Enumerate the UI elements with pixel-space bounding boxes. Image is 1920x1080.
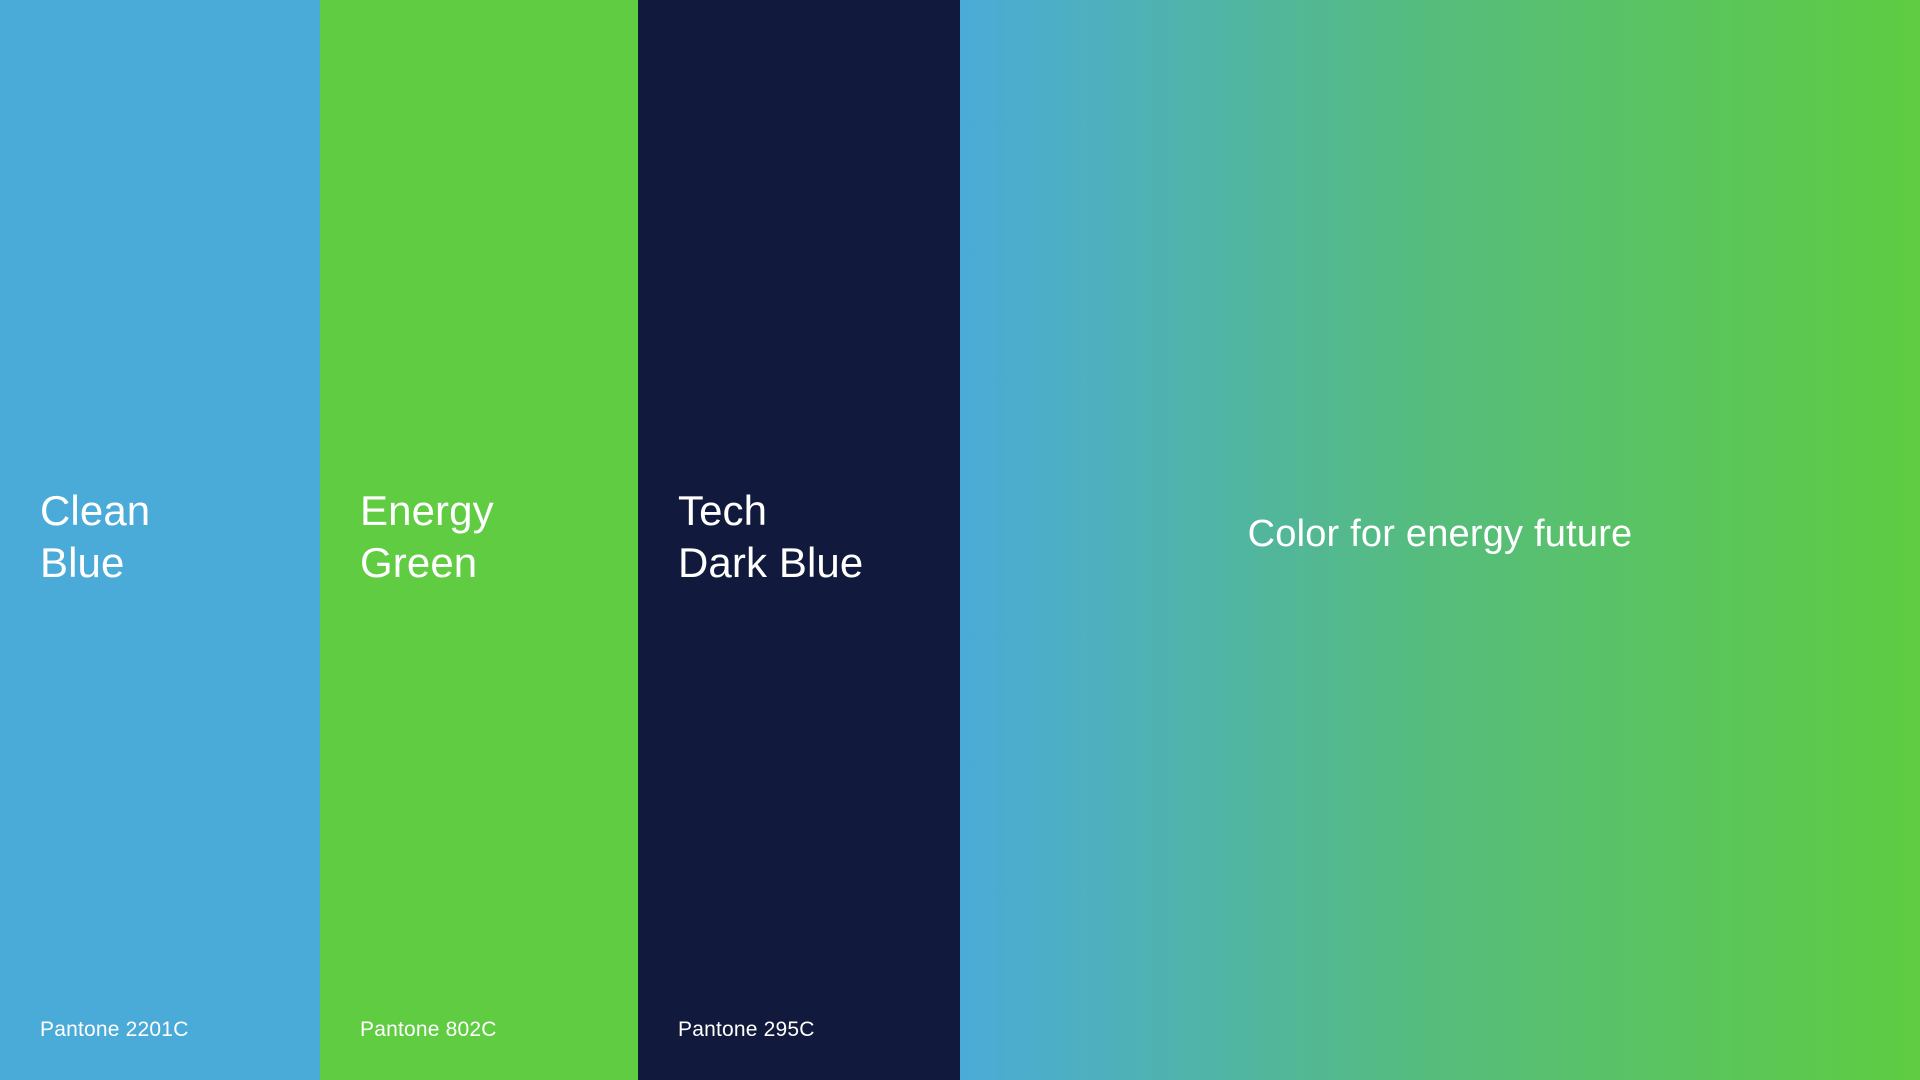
swatch-tech-dark-blue-pantone: Pantone 295C xyxy=(678,1018,815,1042)
swatch-clean-blue-pantone: Pantone 2201C xyxy=(40,1018,189,1042)
swatch-tech-dark-blue[interactable]: Tech Dark Blue Pantone 295C xyxy=(638,0,960,1080)
swatch-clean-blue[interactable]: Clean Blue Pantone 2201C xyxy=(0,0,320,1080)
swatch-energy-green-name: Energy Green xyxy=(360,485,494,589)
color-palette-board: Clean Blue Pantone 2201C Energy Green Pa… xyxy=(0,0,1920,1080)
gradient-panel-caption: Color for energy future xyxy=(1248,513,1633,556)
swatch-tech-dark-blue-name: Tech Dark Blue xyxy=(678,485,863,589)
swatch-energy-green[interactable]: Energy Green Pantone 802C xyxy=(320,0,638,1080)
swatch-energy-green-pantone: Pantone 802C xyxy=(360,1018,497,1042)
swatch-clean-blue-name: Clean Blue xyxy=(40,485,150,589)
gradient-panel[interactable]: Color for energy future xyxy=(960,0,1920,1080)
